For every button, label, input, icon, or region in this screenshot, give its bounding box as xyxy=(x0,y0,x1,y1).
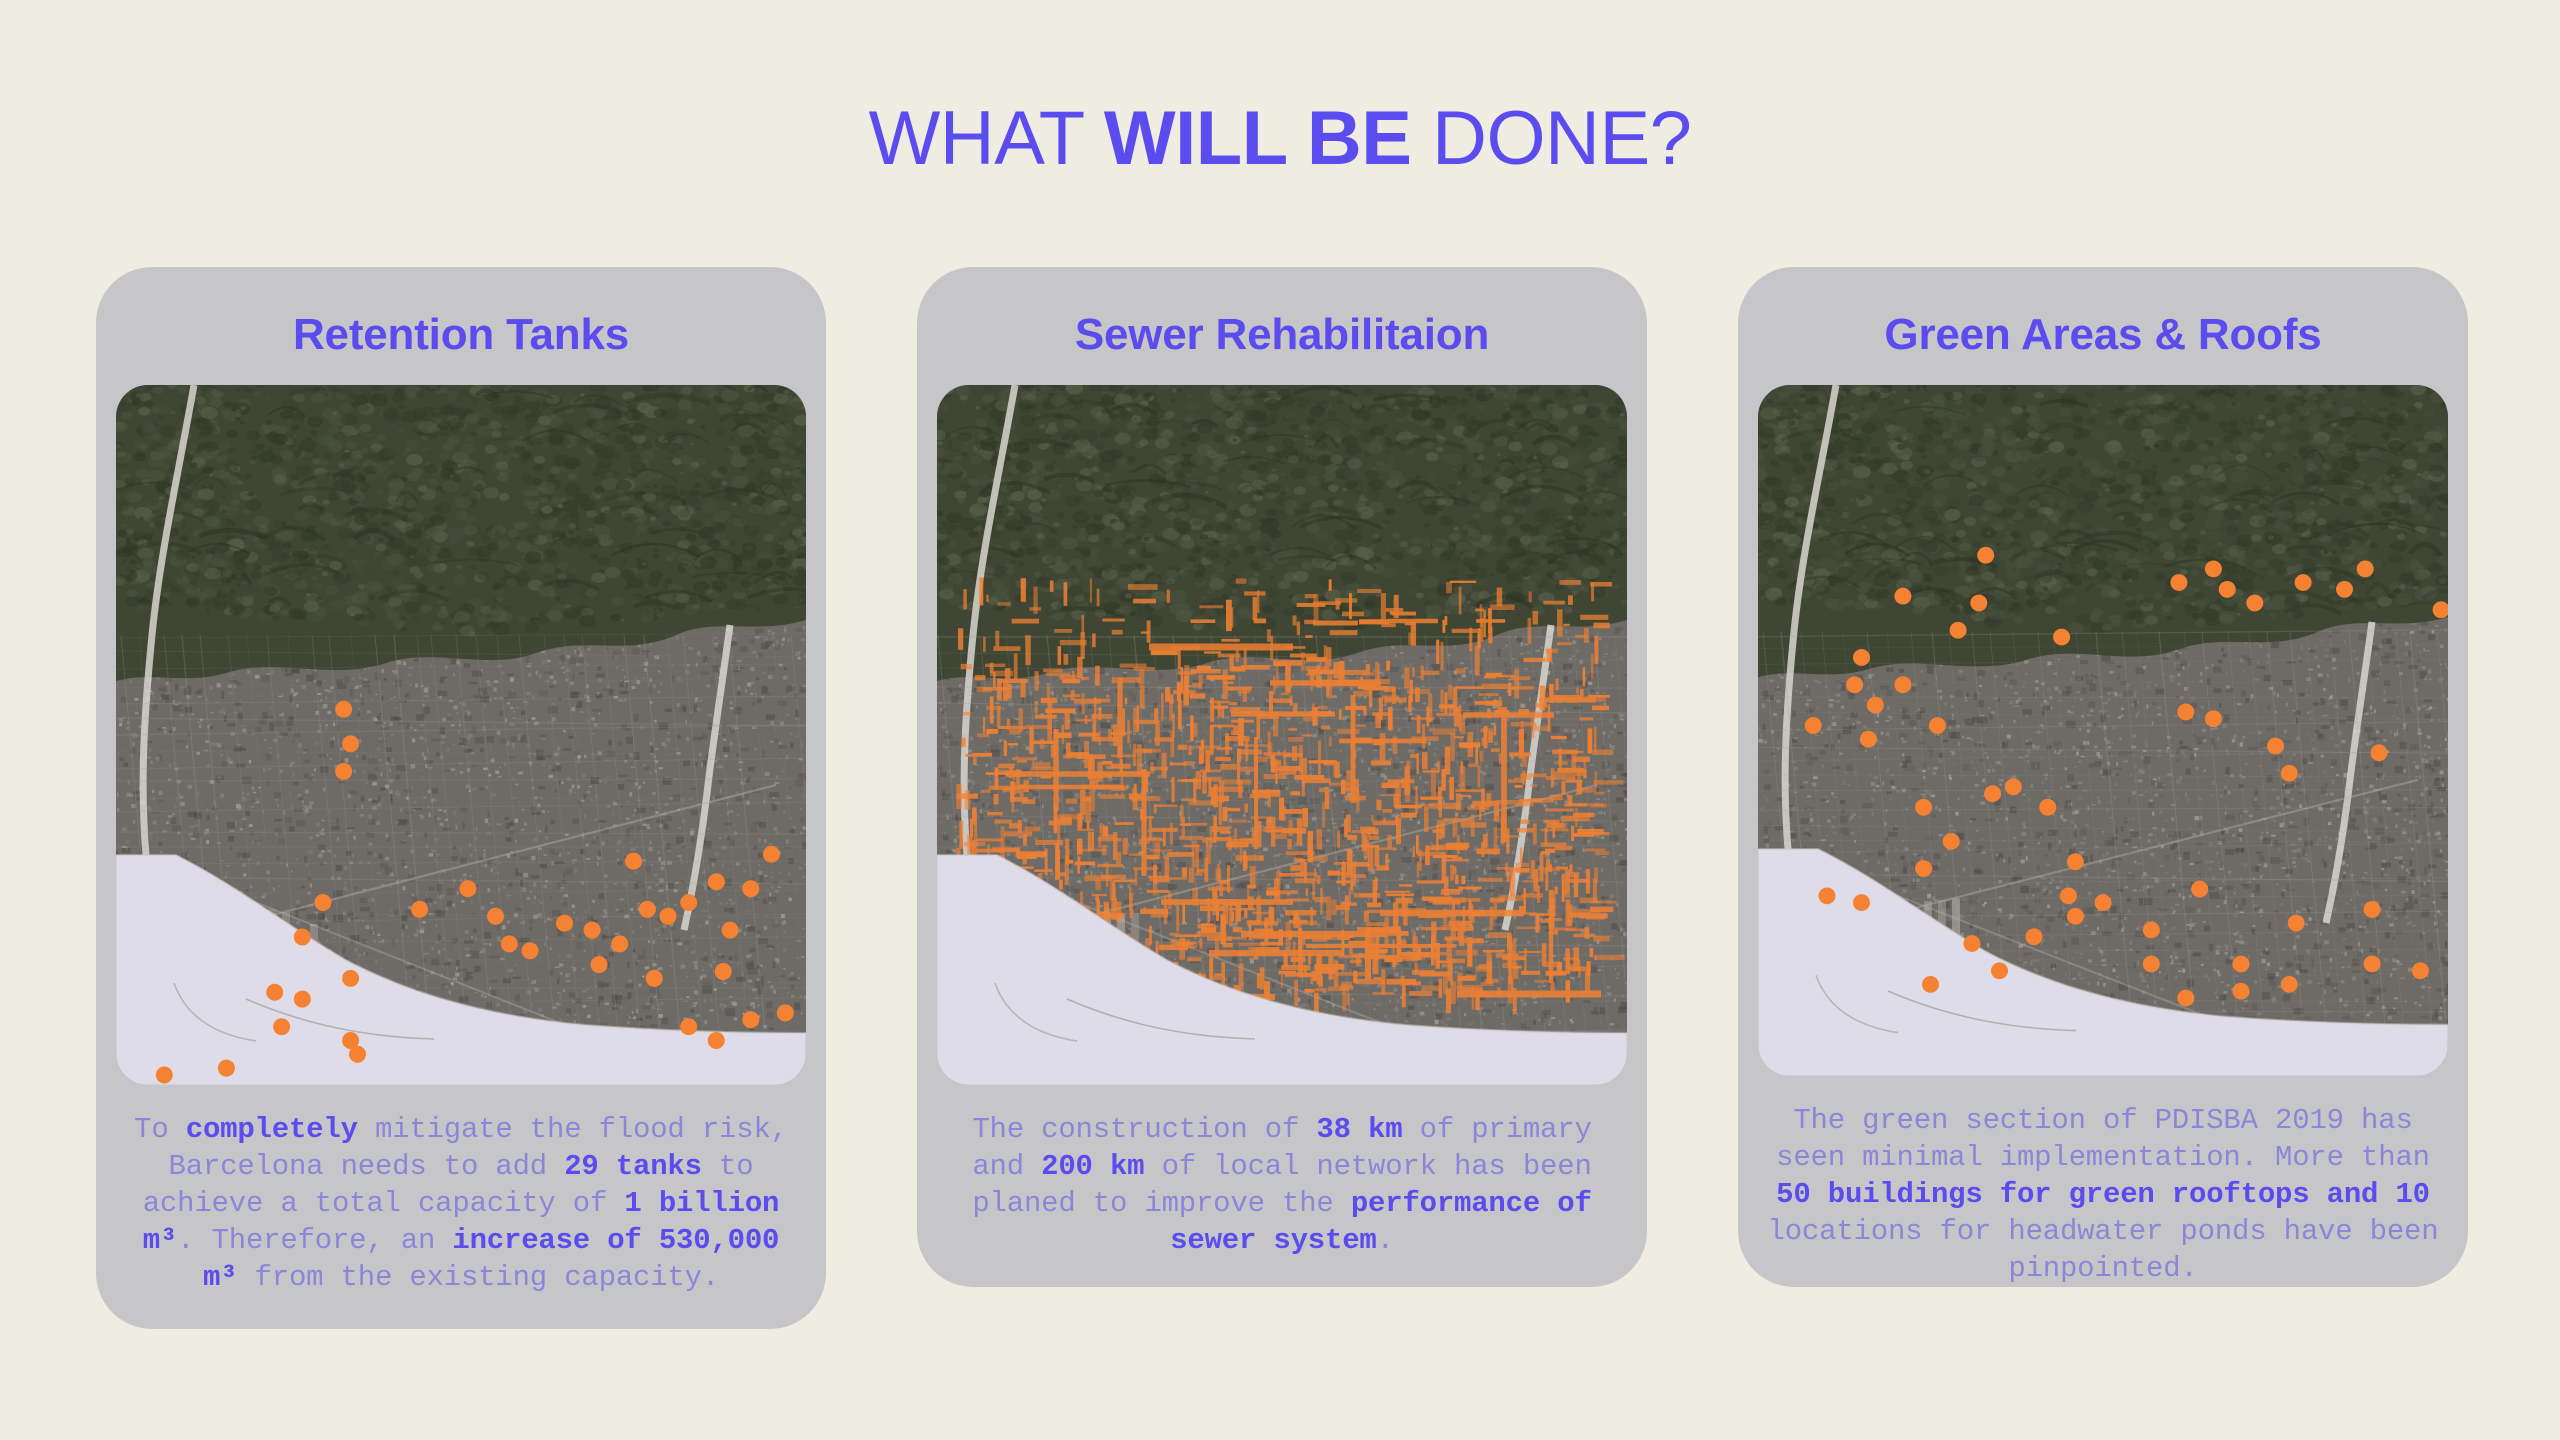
card-title: Green Areas & Roofs xyxy=(1884,309,2321,361)
barcelona-map-icon xyxy=(937,385,1627,1085)
card-green-areas-roofs[interactable]: Green Areas & Roofs The green section of… xyxy=(1738,267,2468,1287)
card-title: Retention Tanks xyxy=(293,309,629,361)
barcelona-map-icon xyxy=(116,385,806,1085)
slide-root: WHAT WILL BE DONE? Retention Tanks To co… xyxy=(0,0,2560,1440)
card-description: The construction of 38 km of primary and… xyxy=(937,1111,1627,1259)
barcelona-map-icon xyxy=(1758,385,2448,1076)
page-title-prefix: WHAT xyxy=(869,96,1104,181)
card-sewer-rehabilitation[interactable]: Sewer Rehabilitaion The construction of … xyxy=(917,267,1647,1287)
page-title-emphasis: WILL BE xyxy=(1104,96,1412,181)
map-thumbnail-sewer-network[interactable] xyxy=(937,385,1627,1085)
card-title: Sewer Rehabilitaion xyxy=(1075,309,1489,361)
page-title-suffix: DONE? xyxy=(1411,96,1691,181)
card-row: Retention Tanks To completely mitigate t… xyxy=(96,267,2468,1329)
map-thumbnail-green-areas[interactable] xyxy=(1758,385,2448,1076)
map-thumbnail-retention-tanks[interactable] xyxy=(116,385,806,1085)
card-description: The green section of PDISBA 2019 has see… xyxy=(1758,1102,2448,1287)
page-title: WHAT WILL BE DONE? xyxy=(0,96,2560,182)
card-description: To completely mitigate the flood risk, B… xyxy=(116,1111,806,1296)
card-retention-tanks[interactable]: Retention Tanks To completely mitigate t… xyxy=(96,267,826,1329)
